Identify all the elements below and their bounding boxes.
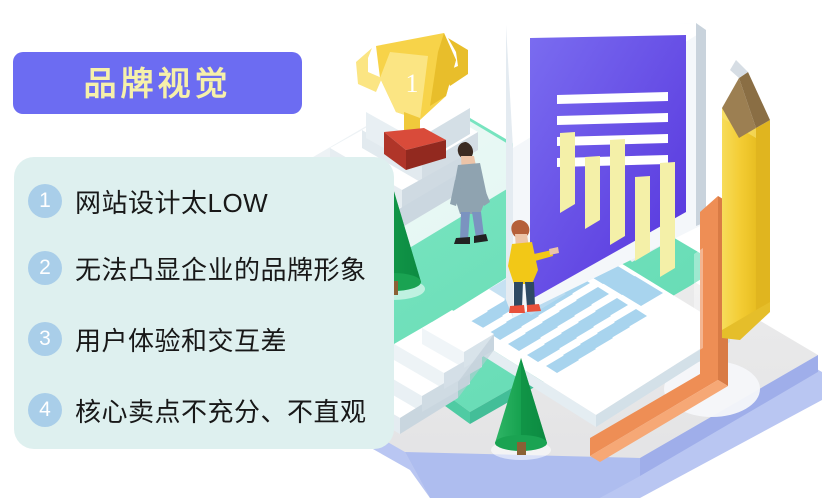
trophy: 1: [356, 33, 468, 170]
list-item: 1 网站设计太LOW: [14, 179, 268, 223]
list-item-label: 无法凸显企业的品牌形象: [75, 250, 367, 287]
screen-bar-chart: [560, 132, 675, 277]
screen-text-lines: [557, 92, 668, 167]
issues-list: 1 网站设计太LOW 2 无法凸显企业的品牌形象 3 用户体验和交互差 4 核心…: [14, 157, 574, 449]
list-item-label: 用户体验和交互差: [75, 321, 287, 358]
list-item-label: 网站设计太LOW: [75, 183, 268, 220]
triangle-ruler: [590, 196, 728, 462]
list-item-number: 4: [28, 393, 62, 427]
list-item-number: 2: [28, 251, 62, 285]
list-item-number: 3: [28, 322, 62, 356]
poster-canvas: 1: [0, 0, 823, 500]
list-item: 2 无法凸显企业的品牌形象: [14, 246, 367, 290]
list-item-number: 1: [28, 184, 62, 218]
trackpad-circle: [664, 361, 760, 417]
list-item: 3 用户体验和交互差: [14, 317, 287, 361]
brand-visual-title-badge: 品牌视觉: [13, 52, 302, 114]
trophy-rank-label: 1: [406, 69, 419, 98]
pencil: [722, 60, 770, 340]
page-title: 品牌视觉: [84, 67, 232, 100]
list-item-label: 核心卖点不充分、不直观: [75, 392, 367, 429]
list-item: 4 核心卖点不充分、不直观: [14, 388, 367, 432]
